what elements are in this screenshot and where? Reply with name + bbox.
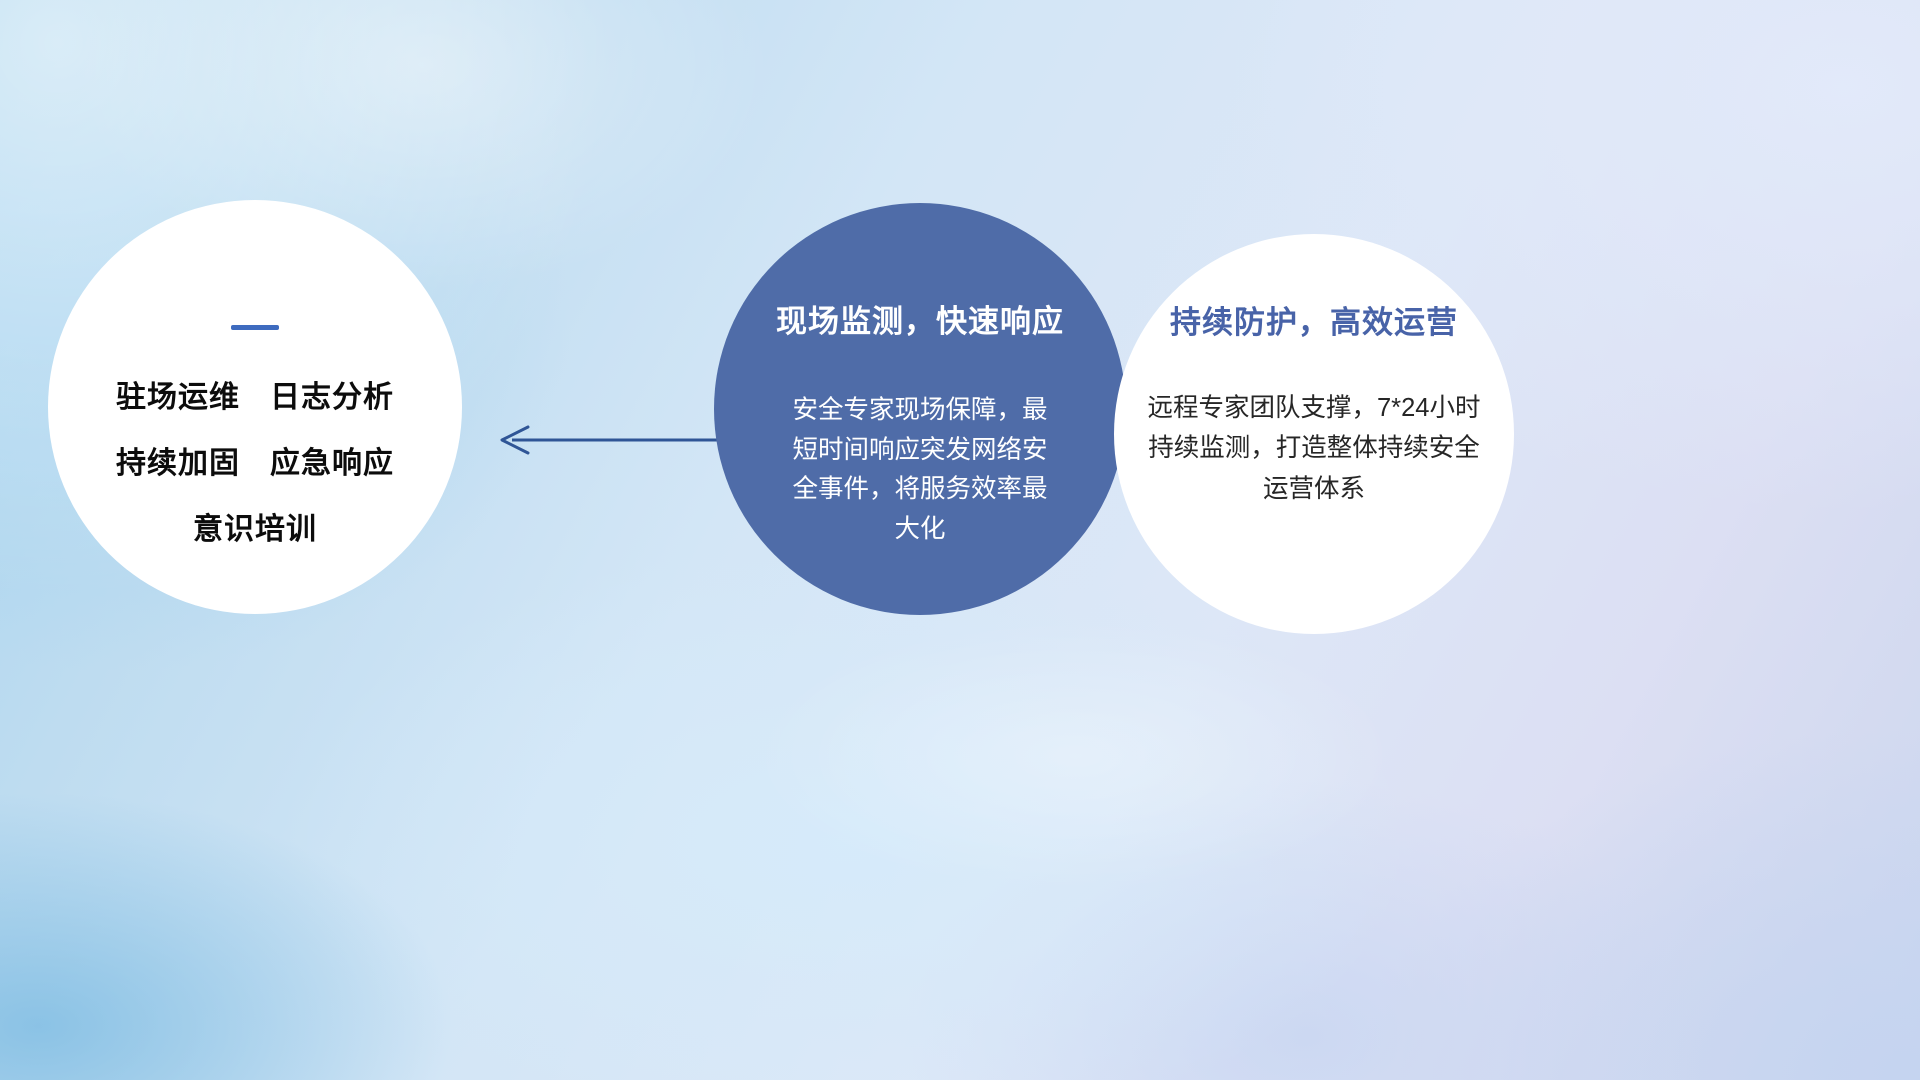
capability-row: 持续加固 应急响应 <box>116 438 394 482</box>
capability-list: 驻场运维 日志分析 持续加固 应急响应 意识培训 <box>116 372 394 548</box>
capability-row: 驻场运维 日志分析 <box>116 372 394 416</box>
capability-item-continuous-hardening: 持续加固 <box>116 438 240 482</box>
capability-row: 意识培训 <box>193 504 317 548</box>
capability-item-log-analysis: 日志分析 <box>270 372 394 416</box>
capability-item-onsite-ops: 驻场运维 <box>116 372 240 416</box>
continuous-protection-title: 持续防护，高效运营 <box>1170 297 1458 342</box>
capability-item-awareness-training: 意识培训 <box>193 504 317 548</box>
onsite-monitoring-title: 现场监测，快速响应 <box>776 296 1064 341</box>
onsite-monitoring-circle[interactable]: 现场监测，快速响应 安全专家现场保障，最短时间响应突发网络安全事件，将服务效率最… <box>714 203 1126 615</box>
onsite-monitoring-body: 安全专家现场保障，最短时间响应突发网络安全事件，将服务效率最大化 <box>786 391 1054 549</box>
continuous-protection-circle[interactable]: 持续防护，高效运营 远程专家团队支撑，7*24小时持续监测，打造整体持续安全运营… <box>1114 234 1514 634</box>
divider-dash <box>231 325 279 330</box>
continuous-protection-body: 远程专家团队支撑，7*24小时持续监测，打造整体持续安全运营体系 <box>1144 388 1484 509</box>
service-capabilities-circle[interactable]: 驻场运维 日志分析 持续加固 应急响应 意识培训 <box>48 200 462 614</box>
capability-item-emergency-response: 应急响应 <box>270 438 394 482</box>
